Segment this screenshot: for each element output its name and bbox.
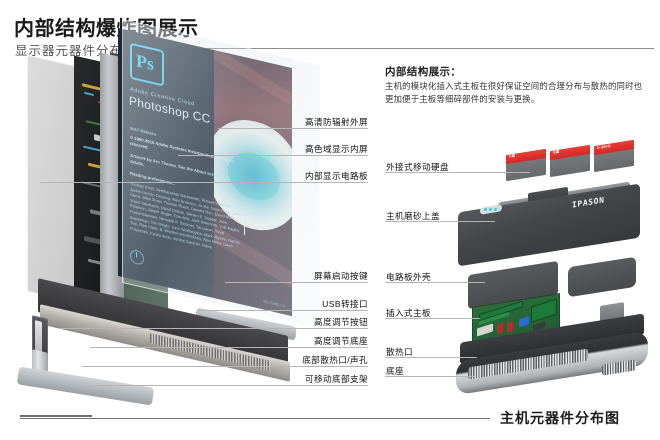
label-outer-screen: 高清防辐射外屏 <box>268 116 368 130</box>
label-movable-stand: 可移动底部支架 <box>248 373 368 387</box>
label-inner-screen: 高色域显示内屏 <box>268 143 368 157</box>
footer-caption: 主机元器件分布图 <box>500 408 620 428</box>
infographic-canvas: 内部结构爆炸图展示 显示器元器件分布图 内部结构展示： 主机的模块化插入式主板在… <box>0 0 660 440</box>
label-frosted-cover: 主机磨砂上盖 <box>386 210 440 224</box>
label-power-button: 屏幕启动按键 <box>268 270 368 284</box>
label-pcb-shell: 电路板外壳 <box>386 271 431 285</box>
label-plugin-mainboard: 插入式主板 <box>386 307 431 321</box>
host-exploded-diagram: F盘 E盘 D 500G IPASON <box>450 140 660 400</box>
label-base: 底座 <box>386 365 404 379</box>
external-hdd-1-label: F盘 <box>509 154 515 160</box>
label-height-base: 高度调节底座 <box>258 335 368 349</box>
label-display-pcb: 内部显示电路板 <box>268 170 368 184</box>
monitor-front-foot <box>17 367 155 406</box>
footer-divider-thick <box>20 415 92 417</box>
monitor-exploded-diagram: Ps Adobe Creative Cloud Photoshop CC 201… <box>0 55 300 405</box>
label-height-button: 高度调节按钮 <box>258 316 368 330</box>
label-usb-port: USB转接口 <box>268 298 368 312</box>
usb-port-insert <box>35 320 42 354</box>
label-external-hdd: 外接式移动硬盘 <box>386 161 449 175</box>
description-heading: 内部结构展示： <box>385 64 461 79</box>
footer-divider <box>20 418 490 419</box>
label-heat-vent: 散热口 <box>386 346 413 360</box>
external-hdd-2-label: E盘 <box>553 149 559 155</box>
label-bottom-vent: 底部散热口/声孔 <box>248 354 368 368</box>
pcb-outer-shell-secondary <box>568 257 636 298</box>
description-body: 主机的模块化插入式主板在很好保证空间的合理分布与散热的同时也更加便于主板等细碎部… <box>385 80 647 105</box>
